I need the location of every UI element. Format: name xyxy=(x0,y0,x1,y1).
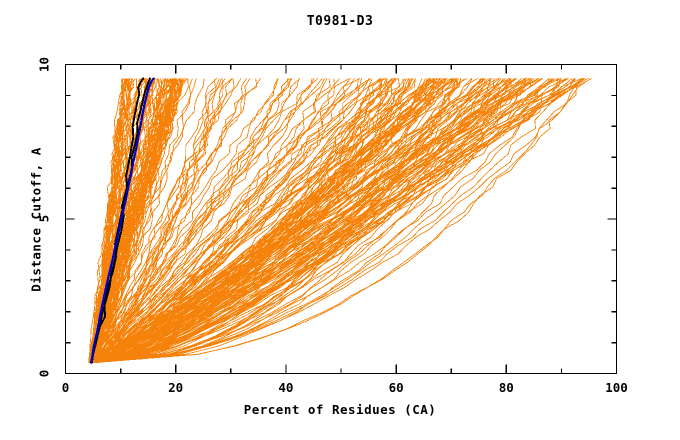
x-tick-label: 100 xyxy=(597,380,637,395)
curve-layer xyxy=(89,78,592,362)
plot-canvas xyxy=(0,0,680,440)
y-tick-label: 0 xyxy=(36,360,51,386)
x-tick-label: 20 xyxy=(156,380,196,395)
y-tick-label: 5 xyxy=(36,206,51,232)
x-tick-label: 40 xyxy=(266,380,306,395)
x-axis-label: Percent of Residues (CA) xyxy=(0,402,680,417)
x-tick-label: 0 xyxy=(46,380,86,395)
y-tick-label: 10 xyxy=(36,51,51,77)
chart-root: T0981-D3 Distance Cutoff, A Percent of R… xyxy=(0,0,680,440)
x-tick-label: 60 xyxy=(376,380,416,395)
x-tick-label: 80 xyxy=(486,380,526,395)
